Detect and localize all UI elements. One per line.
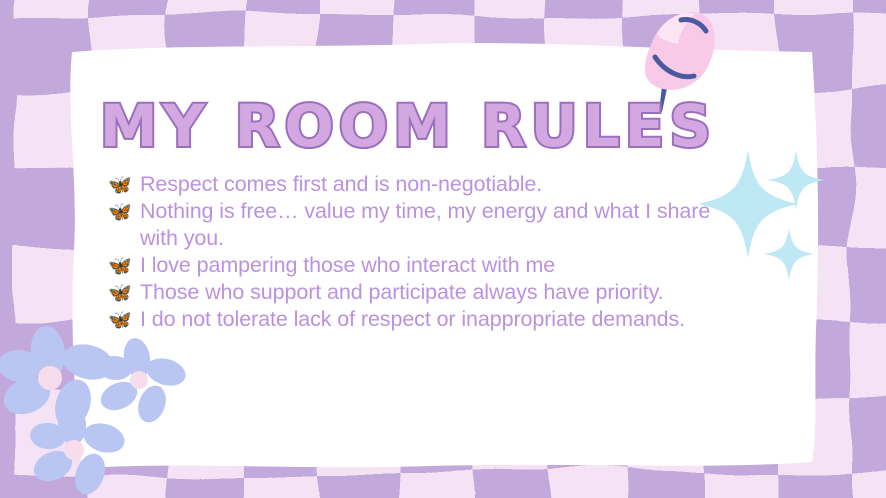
card-content: MY ROOM RULES 🦋 Respect comes first and …	[88, 96, 728, 333]
list-item: 🦋 Respect comes first and is non-negotia…	[108, 171, 728, 198]
list-item: 🦋 Those who support and participate alwa…	[108, 279, 728, 306]
list-item: 🦋 I do not tolerate lack of respect or i…	[108, 306, 728, 333]
rule-text: Respect comes first and is non-negotiabl…	[140, 172, 542, 196]
butterfly-icon: 🦋	[108, 172, 132, 199]
rule-text: Nothing is free… value my time, my energ…	[140, 199, 710, 250]
butterfly-icon: 🦋	[108, 280, 132, 307]
poster-canvas: MY ROOM RULES 🦋 Respect comes first and …	[0, 0, 886, 498]
rule-text: I love pampering those who interact with…	[140, 253, 555, 277]
butterfly-icon: 🦋	[108, 253, 132, 280]
rule-text: Those who support and participate always…	[140, 280, 664, 304]
rule-text: I do not tolerate lack of respect or ina…	[140, 307, 685, 331]
butterfly-icon: 🦋	[108, 307, 132, 334]
butterfly-icon: 🦋	[108, 199, 132, 226]
list-item: 🦋 Nothing is free… value my time, my ene…	[108, 198, 728, 252]
rules-list: 🦋 Respect comes first and is non-negotia…	[88, 171, 728, 333]
list-item: 🦋 I love pampering those who interact wi…	[108, 252, 728, 279]
page-title: MY ROOM RULES	[88, 96, 728, 157]
